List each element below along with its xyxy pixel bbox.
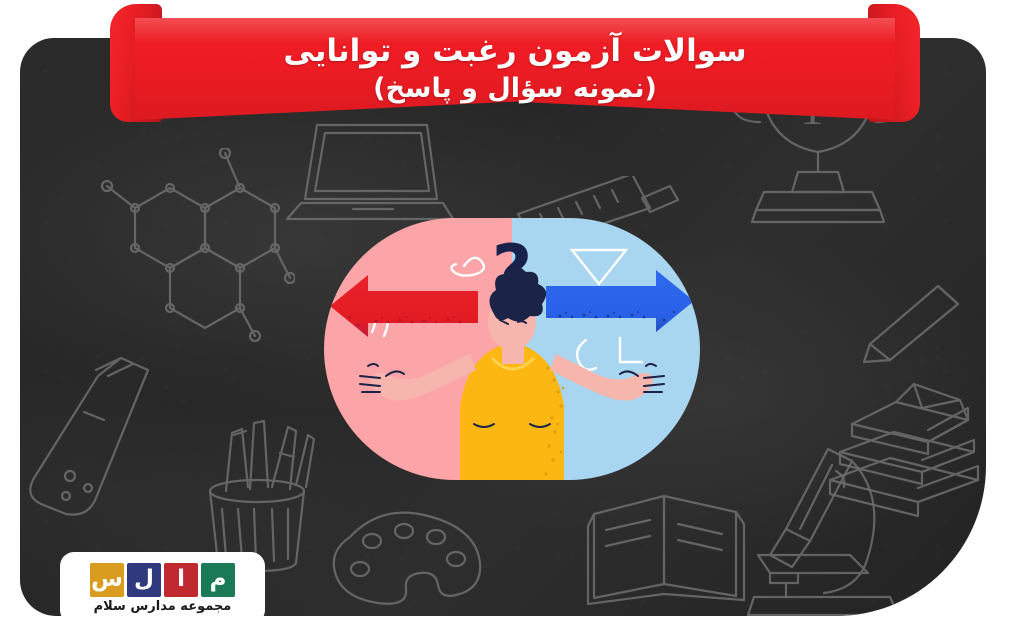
person-right-arm [550,354,653,401]
logo-square-lam: ل [127,563,161,597]
title-line-1: سوالات آزمون رغبت و توانایی [283,34,746,70]
pen-doodle [860,274,980,364]
title-text-group: سوالات آزمون رغبت و توانایی (نمونه سؤال … [135,18,895,120]
microscope-doodle [740,443,920,616]
logo-letter-squares: م ا ل س [90,563,235,597]
flask-doodle [26,348,196,528]
pencil-cup-doodle [192,413,322,573]
logo-subtitle: مجموعه مدارس سلام [94,599,232,614]
logo-square-meem: م [201,563,235,597]
poster-root: 1 [0,0,1024,638]
title-line-2: (نمونه سؤال و پاسخ) [373,73,657,104]
logo-square-alef: ا [164,563,198,597]
book-open-doodle [580,478,760,608]
title-banner: سوالات آزمون رغبت و توانایی (نمونه سؤال … [110,0,920,160]
shrugging-person [324,218,700,480]
salam-schools-logo: م ا ل س مجموعه مدارس سلام [60,552,265,624]
decision-illustration: ? [324,218,700,480]
person-shirt [460,344,564,480]
person-left-arm [371,354,476,401]
logo-square-seen: س [90,563,124,597]
palette-doodle [320,503,500,613]
person-hair [489,266,546,321]
molecule-doodle [75,148,295,348]
